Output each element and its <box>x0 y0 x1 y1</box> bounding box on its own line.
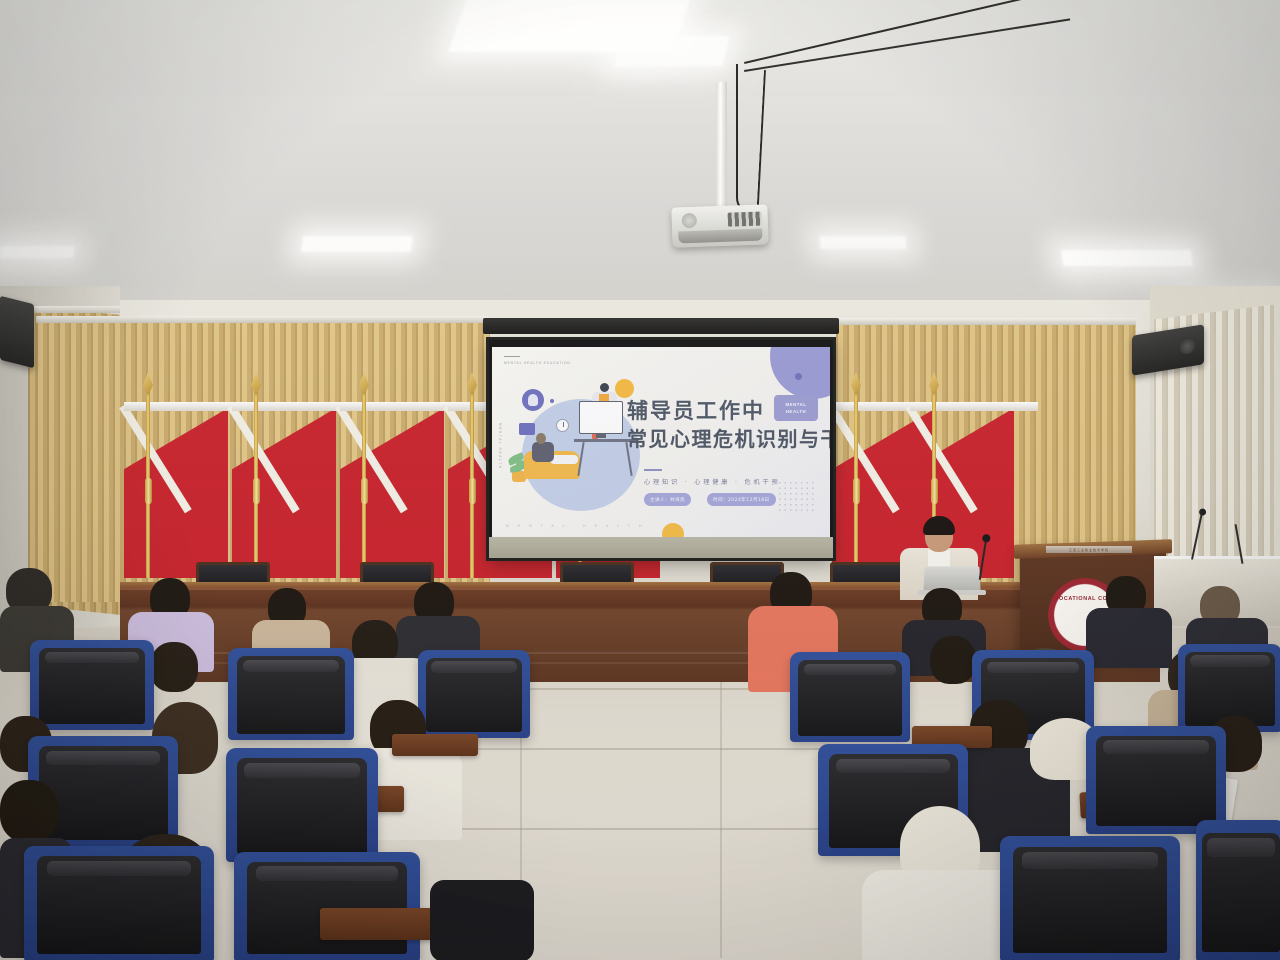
slide-orange-dot <box>662 523 684 537</box>
ceiling-cable <box>744 18 1070 72</box>
auditorium-seat[interactable] <box>226 748 378 862</box>
auditorium-seat[interactable] <box>1196 820 1280 960</box>
ceiling-light-panel <box>1061 250 1193 266</box>
auditorium-seat[interactable] <box>418 650 530 738</box>
auditorium-seat[interactable] <box>30 640 154 730</box>
wall-speaker-left-icon <box>0 296 34 368</box>
lecture-hall-photo: MENTAL HEALTH EDUCATION MENTAL HEALTH ME… <box>0 0 1280 960</box>
auditorium-seat[interactable] <box>790 652 910 742</box>
ceiling-projector <box>671 204 768 247</box>
slide-note-icon <box>519 423 535 435</box>
projector-lens-icon <box>682 213 698 229</box>
slide-title-line2: 常见心理危机识别与干预 <box>627 423 830 452</box>
projector-cable <box>736 64 752 214</box>
slide-date-pill: 时间：2024年12月18日 <box>707 493 776 506</box>
curtain-rail <box>36 316 490 323</box>
ceiling-light-panel <box>301 236 413 252</box>
slide-person-seated-head <box>536 433 546 444</box>
projector-cable <box>756 70 768 220</box>
screen-lower-edge <box>489 537 833 558</box>
slide-purple-dot <box>795 373 802 380</box>
ceiling <box>0 0 1280 320</box>
ceiling-light-panel <box>0 246 75 258</box>
slide-title-line1: 辅导员工作中 <box>627 395 765 425</box>
slide-header-rule <box>504 356 520 357</box>
slide-bottom-en: MENTAL HEALTH <box>506 524 650 528</box>
slide-mental-health-badge: MENTAL HEALTH <box>774 395 818 421</box>
auditorium-seat[interactable] <box>1086 726 1226 834</box>
slide-subtitle-rule <box>644 469 662 471</box>
badge-line-2: HEALTH <box>786 408 806 415</box>
curtain-rail <box>836 318 1136 325</box>
auditorium-seat[interactable] <box>228 648 354 740</box>
projector-ports <box>728 212 762 227</box>
slide-person-seated-body <box>532 442 554 462</box>
slide-monitor-stand <box>596 434 606 438</box>
slide-brain-icon <box>522 389 544 411</box>
slide-speaker-pill: 主讲人：林海亮 <box>644 493 691 506</box>
auditorium-seat[interactable] <box>24 846 214 960</box>
auditorium-seat[interactable] <box>234 852 420 960</box>
slide-mini-dot <box>550 399 554 403</box>
slide-person-standing-head <box>600 383 609 392</box>
seat-writing-tablet[interactable] <box>392 734 478 756</box>
slide-header-en: MENTAL HEALTH EDUCATION <box>504 361 571 365</box>
ceiling-light-panel <box>819 236 906 249</box>
badge-line-1: MENTAL <box>786 401 807 408</box>
auditorium-seat[interactable] <box>1000 836 1180 960</box>
presentation-slide: MENTAL HEALTH EDUCATION MENTAL HEALTH ME… <box>492 347 830 537</box>
projector-mount-pole <box>716 82 727 214</box>
podium-nameplate: 江西工业职业技术学院 <box>1046 546 1132 553</box>
curtain-rail <box>28 306 120 313</box>
slide-vertical-en: MENTAL HEALTH <box>498 423 502 470</box>
slide-clock-icon <box>556 419 569 432</box>
slide-subtitle: 心理知识 · 心理健康 · 危机干预 <box>644 477 780 486</box>
slide-dot-grid <box>777 480 817 514</box>
presenter-laptop <box>923 566 980 592</box>
screen-roller-housing <box>483 318 839 334</box>
slide-person-seated-legs <box>550 455 578 464</box>
slide-monitor-icon <box>579 401 623 434</box>
ceiling-light-panel <box>615 36 730 66</box>
